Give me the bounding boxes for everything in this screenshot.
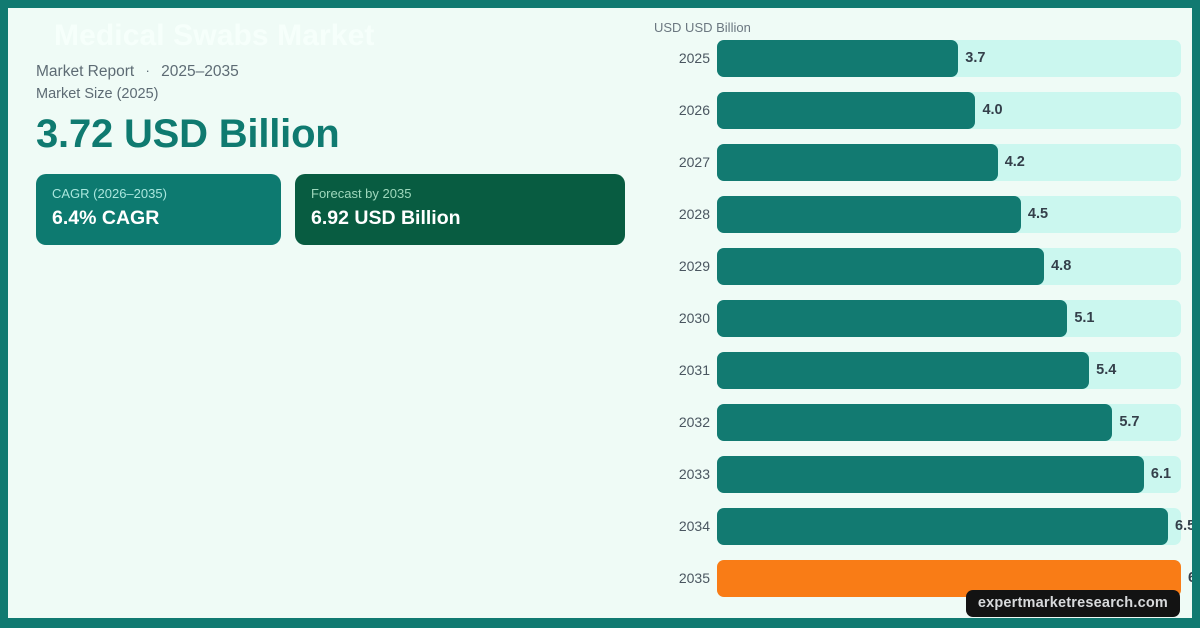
chart-rows: 20253.720264.020274.220284.520294.820305…: [648, 40, 1192, 612]
chart-bar-value: 5.4: [1089, 352, 1116, 389]
forecast-bar-chart: USD USD Billion 20253.720264.020274.2202…: [648, 14, 1192, 614]
report-kind: Market Report: [36, 63, 134, 80]
chart-row: 20284.5: [648, 196, 1192, 248]
chart-bar-value: 3.7: [958, 40, 985, 77]
chart-bar[interactable]: [717, 300, 1067, 337]
chart-row-track: 5.1: [717, 300, 1181, 337]
page-title: Medical Swabs Market: [36, 16, 636, 56]
chart-bar[interactable]: [717, 196, 1021, 233]
chart-row-track: 4.2: [717, 144, 1181, 181]
chart-bar-value: 4.2: [998, 144, 1025, 181]
summary-panel: Medical Swabs Market Market Report · 202…: [36, 16, 636, 245]
chart-row-year: 2027: [648, 144, 710, 181]
chart-bar[interactable]: [717, 352, 1089, 389]
chart-bar-value: 6.5: [1168, 508, 1192, 545]
kpi-badge-cagr-value: 6.4% CAGR: [52, 205, 265, 232]
chart-bar-value: 4.8: [1044, 248, 1071, 285]
chart-row: 20325.7: [648, 404, 1192, 456]
chart-bar[interactable]: [717, 456, 1144, 493]
meta-separator: ·: [139, 63, 157, 78]
chart-row-track: 4.0: [717, 92, 1181, 129]
chart-row-year: 2026: [648, 92, 710, 129]
chart-row: 20294.8: [648, 248, 1192, 300]
chart-bar-value: 5.1: [1067, 300, 1094, 337]
chart-bar-value: 6.1: [1144, 456, 1171, 493]
chart-bar[interactable]: [717, 404, 1112, 441]
kpi-badge-cagr-label: CAGR (2026–2035): [52, 185, 265, 203]
chart-row: 20253.7: [648, 40, 1192, 92]
chart-bar[interactable]: [717, 248, 1044, 285]
chart-bar-value: 4.5: [1021, 196, 1048, 233]
kpi-badge-forecast: Forecast by 2035 6.92 USD Billion: [295, 174, 625, 245]
kpi-badge-forecast-value: 6.92 USD Billion: [311, 205, 609, 232]
watermark: expertmarketresearch.com: [966, 590, 1180, 617]
chart-bar[interactable]: [717, 92, 975, 129]
kpi-badge-row: CAGR (2026–2035) 6.4% CAGR Forecast by 2…: [36, 174, 636, 245]
chart-row-year: 2025: [648, 40, 710, 77]
chart-bar-value: 4.0: [975, 92, 1002, 129]
chart-row: 20346.5: [648, 508, 1192, 560]
chart-row-year: 2030: [648, 300, 710, 337]
chart-row-track: 5.7: [717, 404, 1181, 441]
chart-bar[interactable]: [717, 508, 1168, 545]
chart-row-track: 4.8: [717, 248, 1181, 285]
chart-bar[interactable]: [717, 144, 998, 181]
chart-row: 20264.0: [648, 92, 1192, 144]
report-meta: Market Report · 2025–2035: [36, 60, 636, 83]
chart-row: 20336.1: [648, 456, 1192, 508]
chart-row-track: 6.5: [717, 508, 1181, 545]
chart-axis-title: USD USD Billion: [654, 19, 751, 37]
report-frame: Medical Swabs Market Market Report · 202…: [0, 0, 1200, 628]
chart-row-year: 2034: [648, 508, 710, 545]
report-period: 2025–2035: [161, 63, 239, 80]
chart-row-year: 2033: [648, 456, 710, 493]
chart-row: 20305.1: [648, 300, 1192, 352]
chart-row-track: 4.5: [717, 196, 1181, 233]
chart-bar[interactable]: [717, 40, 958, 77]
chart-row-track: 5.4: [717, 352, 1181, 389]
chart-bar-value: 6.9: [1181, 560, 1192, 597]
chart-row-year: 2029: [648, 248, 710, 285]
chart-row-year: 2035: [648, 560, 710, 597]
kpi-badge-cagr: CAGR (2026–2035) 6.4% CAGR: [36, 174, 281, 245]
chart-row-track: 6.1: [717, 456, 1181, 493]
chart-row-track: 3.7: [717, 40, 1181, 77]
report-canvas: Medical Swabs Market Market Report · 202…: [8, 8, 1192, 618]
chart-row-year: 2028: [648, 196, 710, 233]
chart-row-year: 2031: [648, 352, 710, 389]
market-size-value: 3.72 USD Billion: [36, 107, 636, 161]
chart-row: 20315.4: [648, 352, 1192, 404]
chart-bar-value: 5.7: [1112, 404, 1139, 441]
market-size-label: Market Size (2025): [36, 83, 636, 105]
chart-row-year: 2032: [648, 404, 710, 441]
chart-row: 20274.2: [648, 144, 1192, 196]
kpi-badge-forecast-label: Forecast by 2035: [311, 185, 609, 203]
